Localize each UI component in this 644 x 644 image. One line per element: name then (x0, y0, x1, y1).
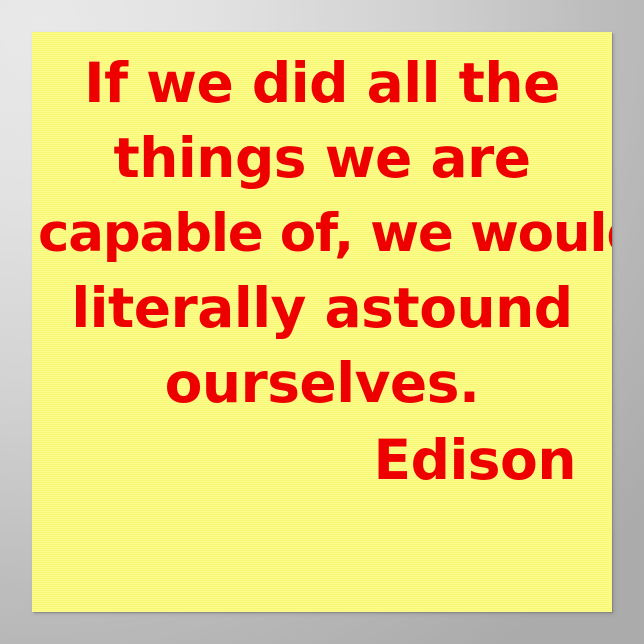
poster-canvas: If we did all the things we are capable … (0, 0, 644, 644)
quote-line-1: If we did all the (38, 46, 606, 121)
quote-line-4: literally astound (38, 271, 606, 346)
quote-attribution: Edison (38, 423, 606, 498)
quote-line-2: things we are (38, 121, 606, 196)
quote-text-block: If we did all the things we are capable … (32, 32, 612, 498)
quote-line-3: capable of, we would (38, 196, 606, 271)
quote-line-5: ourselves. (38, 346, 606, 421)
poster-sheet: If we did all the things we are capable … (32, 32, 612, 612)
